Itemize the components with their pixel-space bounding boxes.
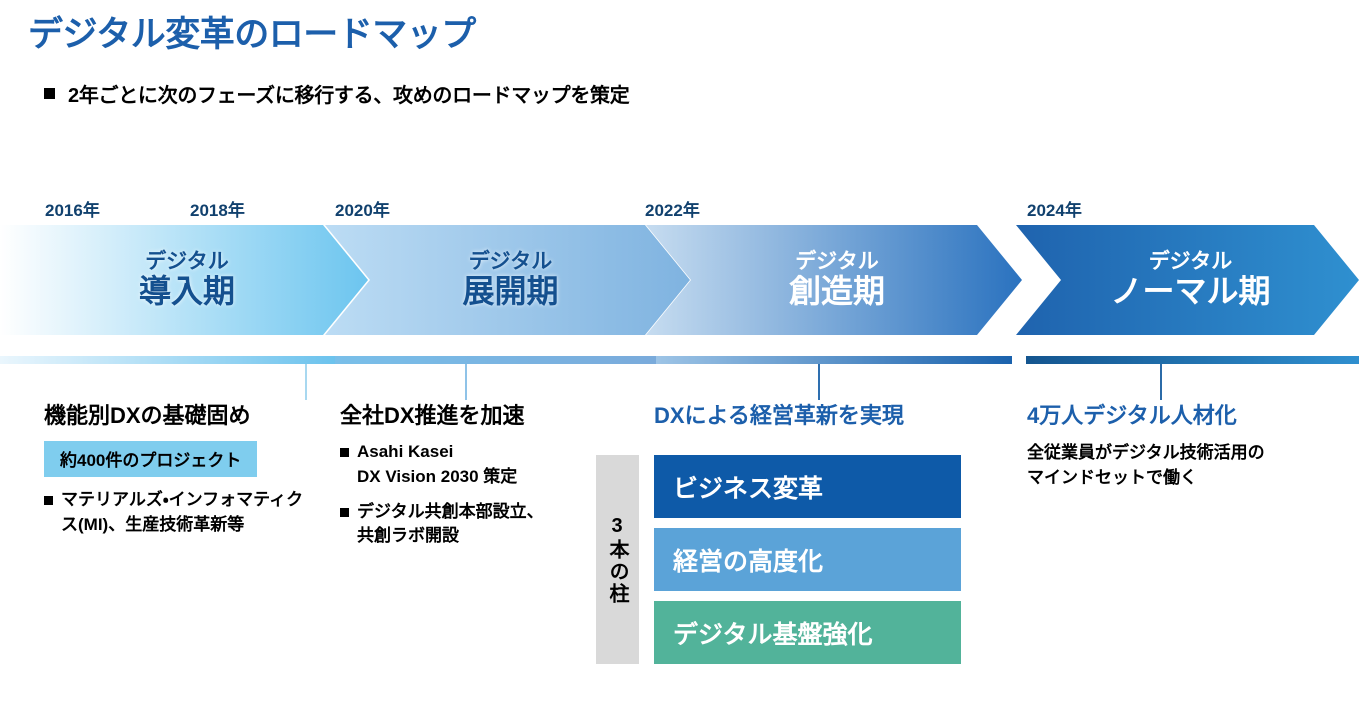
list-item: デジタル共創本部設立、 共創ラボ開設 bbox=[340, 500, 544, 548]
timeline-phase-chevron: デジタルノーマル期 bbox=[1016, 225, 1359, 335]
column-heading: DXによる経営革新を実現 bbox=[654, 403, 904, 429]
year-label: 2024年 bbox=[1027, 196, 1082, 221]
pillar-label: 経営の高度化 bbox=[673, 542, 823, 578]
square-bullet-icon bbox=[44, 88, 55, 99]
timeline-segment-bar bbox=[656, 356, 1012, 364]
timeline-phase-label: デジタル創造期 bbox=[783, 251, 885, 308]
timeline: 2016年2018年2020年2022年2024年デジタル導入期デジタル展開期デ… bbox=[0, 196, 1359, 371]
column-body-text: 全従業員がデジタル技術活用の マインドセットで働く bbox=[1027, 441, 1265, 490]
column-heading: 4万人デジタル人材化 bbox=[1027, 403, 1265, 429]
three-pillars-side-label-text: 3本の柱 bbox=[603, 515, 632, 605]
timeline-phase-chevron: デジタル導入期 bbox=[0, 225, 368, 335]
timeline-tick-connector bbox=[305, 364, 307, 400]
pillar-box: ビジネス変革 bbox=[654, 455, 961, 518]
three-pillars-list: ビジネス変革経営の高度化デジタル基盤強化 bbox=[654, 455, 961, 664]
content-column: DXによる経営革新を実現 bbox=[654, 403, 904, 429]
page-title: デジタル変革のロードマップ bbox=[28, 6, 476, 57]
pillar-label: ビジネス変革 bbox=[673, 469, 823, 505]
timeline-phase-label-big: 導入期 bbox=[139, 275, 235, 309]
subtitle-text: 2年ごとに次のフェーズに移行する、攻めのロードマップを策定 bbox=[68, 79, 629, 108]
pillar-box: デジタル基盤強化 bbox=[654, 601, 961, 664]
content-column: 全社DX推進を加速Asahi Kasei DX Vision 2030 策定デジ… bbox=[340, 403, 544, 548]
pillar-label: デジタル基盤強化 bbox=[673, 615, 873, 651]
timeline-phase-label-small: デジタル bbox=[1110, 251, 1270, 273]
timeline-phase-chevron: デジタル展開期 bbox=[325, 225, 690, 335]
square-bullet-icon bbox=[44, 496, 53, 505]
timeline-phase-label-small: デジタル bbox=[462, 251, 558, 273]
year-label: 2018年 bbox=[190, 196, 245, 221]
subtitle-row: 2年ごとに次のフェーズに移行する、攻めのロードマップを策定 bbox=[44, 79, 629, 108]
timeline-phase-label-big: 展開期 bbox=[462, 275, 558, 309]
timeline-segment-bar bbox=[1026, 356, 1359, 364]
list-item-text: マテリアルズ・インフォマティク ス(MI)、生産技術革新等 bbox=[61, 488, 303, 536]
timeline-phase-chevron: デジタル創造期 bbox=[646, 225, 1022, 335]
year-label: 2020年 bbox=[335, 196, 390, 221]
timeline-tick-connector bbox=[1160, 364, 1162, 400]
three-pillars-side-label: 3本の柱 bbox=[596, 455, 639, 664]
content-column: 4万人デジタル人材化全従業員がデジタル技術活用の マインドセットで働く bbox=[1027, 403, 1265, 491]
bullet-list: マテリアルズ・インフォマティク ス(MI)、生産技術革新等 bbox=[44, 488, 303, 536]
column-heading: 全社DX推進を加速 bbox=[340, 403, 544, 429]
timeline-tick-connector bbox=[818, 364, 820, 400]
three-pillars-group: 3本の柱 ビジネス変革経営の高度化デジタル基盤強化 bbox=[596, 455, 961, 664]
bullet-list: Asahi Kasei DX Vision 2030 策定デジタル共創本部設立、… bbox=[340, 440, 544, 548]
timeline-phase-label-big: ノーマル期 bbox=[1110, 275, 1270, 309]
timeline-phase-label: デジタル導入期 bbox=[133, 251, 235, 308]
timeline-phase-label-big: 創造期 bbox=[789, 275, 885, 309]
list-item-text: デジタル共創本部設立、 共創ラボ開設 bbox=[357, 500, 544, 548]
highlight-badge: 約400件のプロジェクト bbox=[44, 441, 257, 477]
list-item: マテリアルズ・インフォマティク ス(MI)、生産技術革新等 bbox=[44, 488, 303, 536]
timeline-segment-bar bbox=[335, 356, 680, 364]
pillar-box: 経営の高度化 bbox=[654, 528, 961, 591]
timeline-phase-label-small: デジタル bbox=[789, 251, 885, 273]
timeline-phase-label-small: デジタル bbox=[139, 251, 235, 273]
content-column: 機能別DXの基礎固め約400件のプロジェクトマテリアルズ・インフォマティク ス(… bbox=[44, 403, 303, 537]
timeline-phase-label: デジタルノーマル期 bbox=[1104, 251, 1270, 308]
square-bullet-icon bbox=[340, 448, 349, 457]
list-item-text: Asahi Kasei DX Vision 2030 策定 bbox=[357, 440, 517, 488]
list-item: Asahi Kasei DX Vision 2030 策定 bbox=[340, 440, 544, 488]
timeline-segment-bar bbox=[0, 356, 358, 364]
square-bullet-icon bbox=[340, 508, 349, 517]
column-heading: 機能別DXの基礎固め bbox=[44, 403, 303, 429]
year-label: 2022年 bbox=[645, 196, 700, 221]
timeline-tick-connector bbox=[465, 364, 467, 400]
year-label: 2016年 bbox=[45, 196, 100, 221]
timeline-phase-label: デジタル展開期 bbox=[456, 251, 558, 308]
